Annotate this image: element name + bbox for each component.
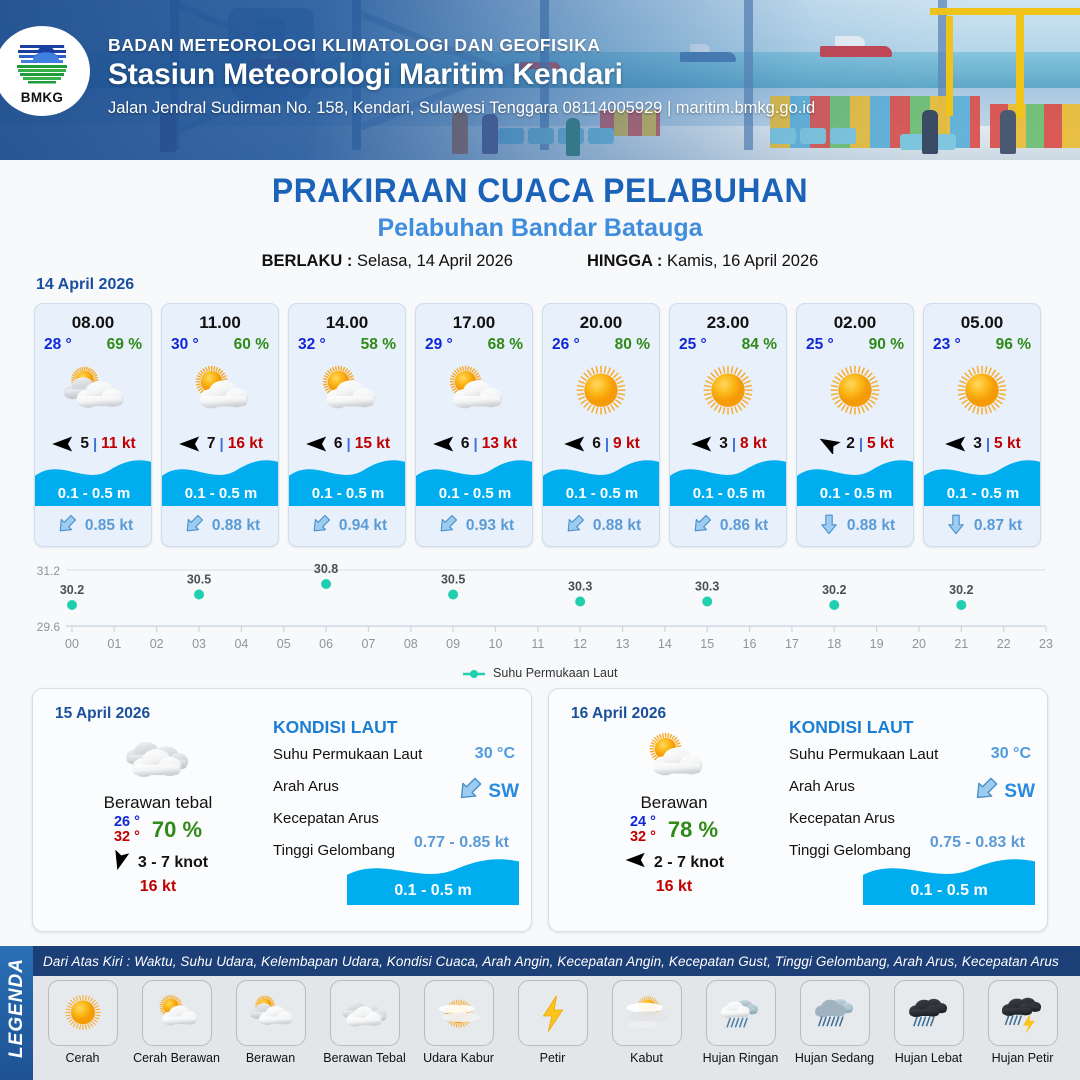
legend-item-label: Cerah Berawan: [132, 1051, 221, 1065]
daily-humidity: 70 %: [152, 817, 202, 843]
card-temperature: 29 °: [425, 336, 453, 354]
card-current-row: 0.85 kt: [35, 511, 152, 541]
station-contact: Jalan Jendral Sudirman No. 158, Kendari,…: [108, 99, 815, 118]
card-temp-humidity: 32 ° 58 %: [289, 333, 405, 354]
daily-summary: Berawan 24 ° 32 ° 78 % 2 - 7 knot 16 kt: [559, 727, 789, 896]
legend-item-label: Berawan: [226, 1051, 315, 1065]
card-temperature: 30 °: [171, 336, 199, 354]
svg-text:13: 13: [616, 637, 630, 651]
svg-text:17: 17: [785, 637, 799, 651]
card-wind-speed: 6: [592, 435, 601, 453]
card-current-row: 0.87 kt: [924, 511, 1041, 541]
overcast-icon: [43, 727, 273, 789]
svg-text:06: 06: [319, 637, 333, 651]
wind-direction-icon: [431, 434, 457, 454]
svg-text:03: 03: [192, 637, 206, 651]
card-wave-block: 0.1 - 0.5 m: [797, 454, 914, 506]
svg-text:30.3: 30.3: [695, 580, 719, 594]
legend-item-label: Petir: [508, 1051, 597, 1065]
card-wave-height: 0.1 - 0.5 m: [924, 485, 1041, 502]
daily-wave-height: 0.1 - 0.5 m: [347, 882, 519, 900]
card-wind-speed: 3: [719, 435, 728, 453]
current-direction-value: SW: [488, 781, 519, 803]
wind-direction-icon: [177, 434, 203, 454]
card-wave-height: 0.1 - 0.5 m: [797, 485, 914, 502]
card-time: 02.00: [797, 313, 913, 333]
wind-direction-icon: [943, 434, 969, 454]
card-wind-sep: |: [474, 436, 478, 453]
daily-wave-height: 0.1 - 0.5 m: [863, 882, 1035, 900]
daily-temp-min: 26 °: [114, 815, 140, 830]
card-time: 08.00: [35, 313, 151, 333]
daily-temp-max: 32 °: [630, 830, 656, 845]
legend-item-label: Hujan Lebat: [884, 1051, 973, 1065]
current-direction-icon: [563, 512, 587, 541]
card-wind-sep: |: [93, 436, 97, 453]
agency-name: BADAN METEOROLOGI KLIMATOLOGI DAN GEOFIS…: [108, 35, 601, 56]
wind-direction-icon: [108, 850, 132, 875]
chart-legend-marker: [463, 669, 485, 679]
card-gust: 11 kt: [101, 435, 135, 453]
card-current-speed: 0.88 kt: [593, 517, 641, 535]
current-direction-value: SW: [1004, 781, 1035, 803]
daily-condition: Berawan: [559, 793, 789, 813]
legend-item: Udara Kabur: [414, 980, 503, 1078]
wind-direction-icon: [562, 434, 588, 454]
daily-wave-block: 0.1 - 0.5 m: [347, 853, 519, 905]
card-current-speed: 0.87 kt: [974, 517, 1022, 535]
legend-item: Hujan Ringan: [696, 980, 785, 1078]
legend-item-label: Hujan Ringan: [696, 1051, 785, 1065]
thunderstorm-icon: [988, 980, 1058, 1046]
card-humidity: 80 %: [615, 336, 650, 354]
svg-text:00: 00: [65, 637, 79, 651]
fog-icon: [612, 980, 682, 1046]
legend-items: Cerah Cerah Berawan: [38, 980, 1074, 1078]
sunny-icon: [924, 356, 1040, 426]
card-wave-height: 0.1 - 0.5 m: [670, 485, 787, 502]
daily-wind: 3 - 7 knot: [138, 854, 208, 872]
svg-text:14: 14: [658, 637, 672, 651]
daily-temps-row: 24 ° 32 ° 78 %: [559, 815, 789, 845]
card-current-row: 0.93 kt: [416, 511, 533, 541]
card-time: 05.00: [924, 313, 1040, 333]
svg-text:30.5: 30.5: [441, 573, 465, 587]
card-humidity: 69 %: [107, 336, 142, 354]
svg-text:10: 10: [489, 637, 503, 651]
overcast-icon: [330, 980, 400, 1046]
sst-chart: 31.229.600010203040506070809101112131415…: [20, 558, 1060, 680]
svg-text:20: 20: [912, 637, 926, 651]
hourly-card: 20.00 26 ° 80 % 6 | 9 kt: [542, 303, 660, 547]
svg-text:16: 16: [743, 637, 757, 651]
card-time: 14.00: [289, 313, 405, 333]
current-speed-label: Kecepatan Arus: [273, 810, 379, 827]
svg-text:08: 08: [404, 637, 418, 651]
svg-text:09: 09: [446, 637, 460, 651]
wind-direction-icon: [689, 434, 715, 454]
svg-text:30.2: 30.2: [822, 583, 846, 597]
valid-from-value: Selasa, 14 April 2026: [357, 252, 513, 270]
card-current-speed: 0.94 kt: [339, 517, 387, 535]
card-gust: 5 kt: [994, 435, 1021, 453]
daily-panel-1: 16 April 2026 Berawan 24 ° 32 °: [548, 688, 1048, 932]
legend-item-label: Hujan Petir: [978, 1051, 1067, 1065]
svg-text:07: 07: [361, 637, 375, 651]
card-wave-height: 0.1 - 0.5 m: [289, 485, 406, 502]
current-direction-icon: [182, 512, 206, 541]
hourly-forecast-row: 08.00 28 ° 69 %: [34, 303, 1046, 547]
card-wind-sep: |: [605, 436, 609, 453]
heavy-rain-icon: [894, 980, 964, 1046]
sunny-icon: [670, 356, 786, 426]
partly-cloudy-icon: [559, 727, 789, 789]
daily-temp-max: 32 °: [114, 830, 140, 845]
card-current-speed: 0.85 kt: [85, 517, 133, 535]
cloudy-icon: [236, 980, 306, 1046]
card-wave-height: 0.1 - 0.5 m: [35, 485, 152, 502]
card-wave-block: 0.1 - 0.5 m: [35, 454, 152, 506]
svg-text:01: 01: [107, 637, 121, 651]
card-wind-speed: 3: [973, 435, 982, 453]
card-current-speed: 0.86 kt: [720, 517, 768, 535]
current-direction-value-group: SW: [971, 774, 1035, 809]
svg-text:21: 21: [954, 637, 968, 651]
valid-until-label: HINGGA :: [587, 252, 662, 270]
legend-item: Berawan: [226, 980, 315, 1078]
chart-legend: Suhu Permukaan Laut: [0, 666, 1080, 680]
legend-item-label: Cerah: [38, 1051, 127, 1065]
legend-item-label: Kabut: [602, 1051, 691, 1065]
daily-condition: Berawan tebal: [43, 793, 273, 813]
sst-label: Suhu Permukaan Laut: [789, 746, 938, 763]
card-wind-sep: |: [859, 436, 863, 453]
wind-direction-icon: [50, 434, 76, 454]
card-gust: 16 kt: [228, 435, 263, 453]
sea-conditions-title: KONDISI LAUT: [789, 717, 1039, 738]
partly-cloudy-icon: [162, 356, 278, 426]
card-temperature: 23 °: [933, 336, 961, 354]
daily-wind-row: 3 - 7 knot: [43, 850, 273, 875]
current-direction-label: Arah Arus: [789, 778, 855, 795]
legend-tab-label: LEGENDA: [6, 948, 28, 1068]
legend-item: Kabut: [602, 980, 691, 1078]
legend-tab: LEGENDA: [0, 946, 33, 1080]
card-wind-speed: 2: [846, 435, 855, 453]
card-current-row: 0.88 kt: [543, 511, 660, 541]
legend-footer: LEGENDA Dari Atas Kiri : Waktu, Suhu Uda…: [0, 946, 1080, 1080]
svg-text:30.2: 30.2: [60, 583, 84, 597]
daily-wind-row: 2 - 7 knot: [559, 850, 789, 875]
daily-wind: 2 - 7 knot: [654, 854, 724, 872]
card-current-row: 0.88 kt: [797, 511, 914, 541]
valid-from-label: BERLAKU :: [262, 252, 353, 270]
card-temp-humidity: 25 ° 90 %: [797, 333, 913, 354]
card-wave-block: 0.1 - 0.5 m: [670, 454, 787, 506]
card-wave-block: 0.1 - 0.5 m: [543, 454, 660, 506]
hourly-card: 02.00 25 ° 90 % 2 | 5 kt: [796, 303, 914, 547]
card-temp-humidity: 29 ° 68 %: [416, 333, 532, 354]
card-humidity: 58 %: [361, 336, 396, 354]
legend-item-label: Berawan Tebal: [320, 1051, 409, 1065]
hourly-card: 08.00 28 ° 69 %: [34, 303, 152, 547]
legend-item: Berawan Tebal: [320, 980, 409, 1078]
legend-item: Hujan Petir: [978, 980, 1067, 1078]
card-temp-humidity: 25 ° 84 %: [670, 333, 786, 354]
wind-direction-icon: [624, 850, 648, 875]
card-temperature: 28 °: [44, 336, 72, 354]
card-gust: 5 kt: [867, 435, 894, 453]
card-gust: 15 kt: [355, 435, 390, 453]
card-humidity: 96 %: [996, 336, 1031, 354]
current-direction-row: Arah Arus SW: [273, 778, 523, 810]
bmkg-logo-text: BMKG: [21, 90, 63, 105]
light-rain-icon: [706, 980, 776, 1046]
card-wind-speed: 5: [80, 435, 89, 453]
svg-text:29.6: 29.6: [37, 620, 61, 634]
haze-icon: [424, 980, 494, 1046]
daily-temp-range: 24 ° 32 °: [630, 815, 656, 845]
current-direction-icon: [971, 774, 1001, 809]
card-gust: 13 kt: [482, 435, 517, 453]
card-wave-block: 0.1 - 0.5 m: [162, 454, 279, 506]
daily-panel-0: 15 April 2026 Berawan teb: [32, 688, 532, 932]
sunny-icon: [797, 356, 913, 426]
legend-item: Hujan Lebat: [884, 980, 973, 1078]
card-current-speed: 0.88 kt: [847, 517, 895, 535]
current-direction-value-group: SW: [455, 774, 519, 809]
hourly-date-label: 14 April 2026: [36, 276, 134, 294]
partly-cloudy-icon: [142, 980, 212, 1046]
card-wave-height: 0.1 - 0.5 m: [162, 485, 279, 502]
legend-item: Hujan Sedang: [790, 980, 879, 1078]
svg-text:05: 05: [277, 637, 291, 651]
current-speed-row: Kecepatan Arus 0.75 - 0.83 kt: [789, 810, 1039, 842]
hourly-card: 14.00 32 ° 58 % 6 |: [288, 303, 406, 547]
card-wave-block: 0.1 - 0.5 m: [416, 454, 533, 506]
legend-item-label: Udara Kabur: [414, 1051, 503, 1065]
card-humidity: 68 %: [488, 336, 523, 354]
card-temperature: 25 °: [806, 336, 834, 354]
card-temperature: 32 °: [298, 336, 326, 354]
daily-gust: 16 kt: [559, 878, 789, 896]
legend-item: Cerah: [38, 980, 127, 1078]
daily-wave-block: 0.1 - 0.5 m: [863, 853, 1035, 905]
hourly-card: 11.00 30 ° 60 % 7 |: [161, 303, 279, 547]
station-name: Stasiun Meteorologi Maritim Kendari: [108, 58, 623, 92]
card-current-row: 0.86 kt: [670, 511, 787, 541]
legend-item: Cerah Berawan: [132, 980, 221, 1078]
svg-text:30.3: 30.3: [568, 580, 592, 594]
svg-text:30.2: 30.2: [949, 583, 973, 597]
svg-text:30.8: 30.8: [314, 562, 338, 576]
daily-temps-row: 26 ° 32 ° 70 %: [43, 815, 273, 845]
card-wind-speed: 6: [334, 435, 343, 453]
current-direction-icon: [436, 512, 460, 541]
wind-direction-icon: [304, 434, 330, 454]
validity-row: BERLAKU : Selasa, 14 April 2026 HINGGA :…: [0, 252, 1080, 271]
svg-text:12: 12: [573, 637, 587, 651]
current-direction-icon: [309, 512, 333, 541]
card-wave-block: 0.1 - 0.5 m: [924, 454, 1041, 506]
card-current-speed: 0.88 kt: [212, 517, 260, 535]
page-header: BMKG BADAN METEOROLOGI KLIMATOLOGI DAN G…: [0, 0, 1080, 160]
hourly-card: 05.00 23 ° 96 % 3 | 5 kt: [923, 303, 1041, 547]
card-temperature: 25 °: [679, 336, 707, 354]
card-time: 23.00: [670, 313, 786, 333]
sunny-icon: [543, 356, 659, 426]
daily-date: 16 April 2026: [571, 705, 666, 723]
daily-gust: 16 kt: [43, 878, 273, 896]
sea-conditions-title: KONDISI LAUT: [273, 717, 523, 738]
card-wind-sep: |: [347, 436, 351, 453]
sst-label: Suhu Permukaan Laut: [273, 746, 422, 763]
card-temperature: 26 °: [552, 336, 580, 354]
legend-note: Dari Atas Kiri : Waktu, Suhu Udara, Kele…: [33, 946, 1080, 976]
card-time: 11.00: [162, 313, 278, 333]
moderate-rain-icon: [800, 980, 870, 1046]
card-temp-humidity: 23 ° 96 %: [924, 333, 1040, 354]
partly-cloudy-icon: [416, 356, 532, 426]
partly-cloudy-icon: [289, 356, 405, 426]
legend-item-label: Hujan Sedang: [790, 1051, 879, 1065]
current-direction-icon: [55, 512, 79, 541]
valid-from: BERLAKU : Selasa, 14 April 2026: [262, 252, 513, 271]
valid-until: HINGGA : Kamis, 16 April 2026: [587, 252, 818, 271]
svg-text:31.2: 31.2: [37, 564, 61, 578]
svg-text:22: 22: [997, 637, 1011, 651]
card-temp-humidity: 30 ° 60 %: [162, 333, 278, 354]
sunny-icon: [48, 980, 118, 1046]
card-wind-speed: 6: [461, 435, 470, 453]
daily-summary: Berawan tebal 26 ° 32 ° 70 % 3 - 7 knot …: [43, 727, 273, 896]
card-wave-height: 0.1 - 0.5 m: [543, 485, 660, 502]
svg-text:18: 18: [827, 637, 841, 651]
svg-text:30.5: 30.5: [187, 573, 211, 587]
svg-text:04: 04: [234, 637, 248, 651]
daily-temp-range: 26 ° 32 °: [114, 815, 140, 845]
wind-direction-icon: [816, 434, 842, 454]
card-wind-speed: 7: [207, 435, 216, 453]
valid-until-value: Kamis, 16 April 2026: [667, 252, 818, 270]
daily-sea-conditions: KONDISI LAUT Suhu Permukaan Laut 30 °C A…: [273, 717, 523, 874]
current-direction-icon: [455, 774, 485, 809]
current-speed-row: Kecepatan Arus 0.77 - 0.85 kt: [273, 810, 523, 842]
daily-sea-conditions: KONDISI LAUT Suhu Permukaan Laut 30 °C A…: [789, 717, 1039, 874]
page-title: PRAKIRAAN CUACA PELABUHAN: [32, 172, 1047, 211]
sst-value: 30 °C: [991, 745, 1031, 763]
hourly-card: 17.00 29 ° 68 % 6 |: [415, 303, 533, 547]
card-humidity: 84 %: [742, 336, 777, 354]
svg-text:15: 15: [700, 637, 714, 651]
page-subtitle: Pelabuhan Bandar Batauga: [0, 214, 1080, 243]
card-gust: 8 kt: [740, 435, 767, 453]
bmkg-logo-mark: [14, 37, 70, 89]
current-direction-icon: [944, 512, 968, 541]
daily-humidity: 78 %: [668, 817, 718, 843]
card-wind-sep: |: [220, 436, 224, 453]
hourly-card: 23.00 25 ° 84 % 3 | 8 kt: [669, 303, 787, 547]
card-time: 20.00: [543, 313, 659, 333]
current-speed-label: Kecepatan Arus: [789, 810, 895, 827]
card-wave-height: 0.1 - 0.5 m: [416, 485, 533, 502]
card-wind-sep: |: [986, 436, 990, 453]
cloudy-icon: [35, 356, 151, 426]
chart-legend-label: Suhu Permukaan Laut: [493, 666, 617, 680]
svg-text:02: 02: [150, 637, 164, 651]
svg-text:23: 23: [1039, 637, 1053, 651]
card-humidity: 90 %: [869, 336, 904, 354]
card-wave-block: 0.1 - 0.5 m: [289, 454, 406, 506]
card-temp-humidity: 28 ° 69 %: [35, 333, 151, 354]
card-current-row: 0.94 kt: [289, 511, 406, 541]
card-temp-humidity: 26 ° 80 %: [543, 333, 659, 354]
card-wind-sep: |: [732, 436, 736, 453]
card-humidity: 60 %: [234, 336, 269, 354]
daily-temp-min: 24 °: [630, 815, 656, 830]
legend-item: Petir: [508, 980, 597, 1078]
svg-text:11: 11: [531, 637, 544, 651]
card-gust: 9 kt: [613, 435, 640, 453]
daily-date: 15 April 2026: [55, 705, 150, 723]
card-time: 17.00: [416, 313, 532, 333]
svg-text:19: 19: [870, 637, 884, 651]
sst-value: 30 °C: [475, 745, 515, 763]
current-direction-label: Arah Arus: [273, 778, 339, 795]
current-direction-icon: [690, 512, 714, 541]
current-direction-icon: [817, 512, 841, 541]
card-current-speed: 0.93 kt: [466, 517, 514, 535]
current-direction-row: Arah Arus SW: [789, 778, 1039, 810]
card-current-row: 0.88 kt: [162, 511, 279, 541]
lightning-icon: [518, 980, 588, 1046]
